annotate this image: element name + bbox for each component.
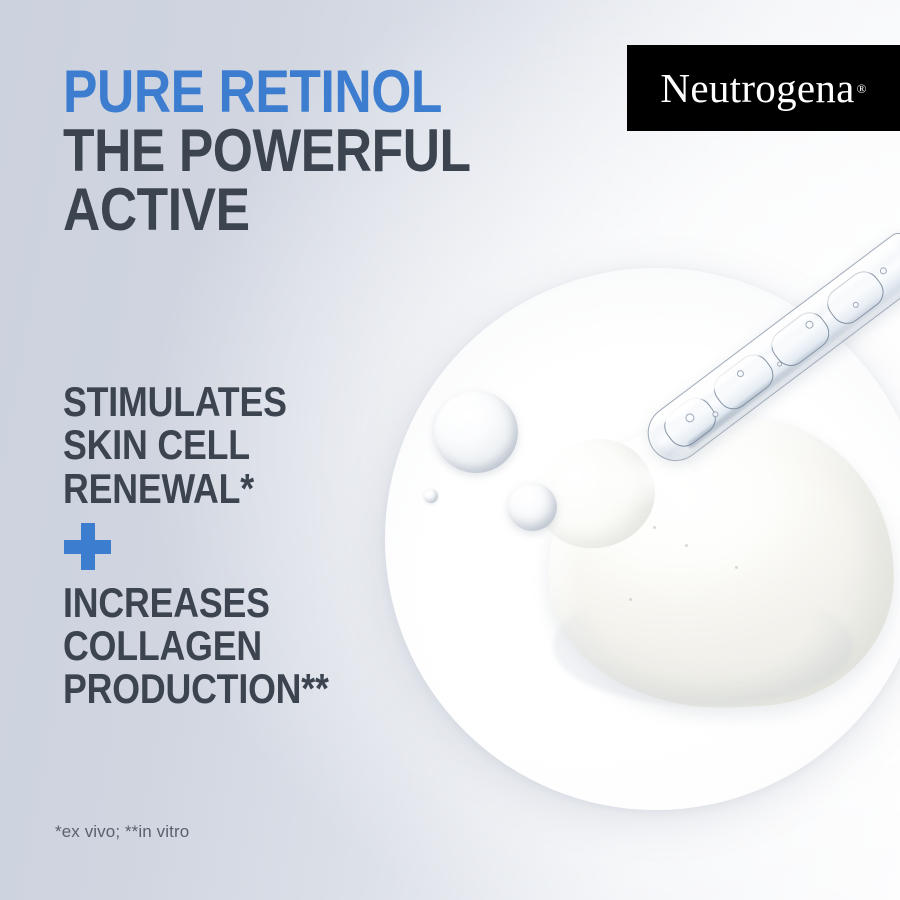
benefit-item-renewal: STIMULATES SKIN CELL RENEWAL* bbox=[63, 380, 403, 510]
serum-blob-rim-shadow bbox=[553, 586, 853, 706]
product-visual bbox=[385, 268, 900, 810]
dropper-bubble bbox=[879, 266, 889, 276]
serum-speck bbox=[685, 544, 688, 547]
plate-shading bbox=[385, 268, 900, 810]
headline-line-1: PURE RETINOL bbox=[63, 62, 545, 121]
droplet-small bbox=[424, 489, 438, 503]
glass-dropper bbox=[636, 229, 900, 472]
serum-blob bbox=[541, 409, 900, 717]
brand-logo-wordmark: Neutrogena bbox=[660, 68, 856, 109]
dropper-bubble bbox=[736, 369, 746, 379]
headline-line-2: THE POWERFUL bbox=[63, 121, 545, 180]
dropper-bubble bbox=[711, 410, 719, 418]
benefit-1-line-2: SKIN CELL bbox=[63, 423, 352, 466]
headline: PURE RETINOL THE POWERFUL ACTIVE bbox=[63, 62, 623, 239]
benefit-2-line-2: COLLAGEN bbox=[63, 624, 352, 667]
dropper-fluid-ring bbox=[658, 391, 722, 453]
serum-speck bbox=[735, 566, 738, 569]
serum-blob-highlight bbox=[592, 431, 730, 518]
circle-plate bbox=[385, 268, 900, 810]
footnote: *ex vivo; **in vitro bbox=[55, 822, 189, 842]
dropper-barrel bbox=[636, 229, 900, 472]
headline-line-3: ACTIVE bbox=[63, 180, 545, 239]
plus-icon bbox=[64, 523, 111, 570]
benefit-1-line-1: STIMULATES bbox=[63, 380, 352, 423]
benefit-1-line-3: RENEWAL* bbox=[63, 467, 352, 510]
dropper-fluid-ring bbox=[765, 306, 836, 372]
dropper-bubble bbox=[804, 319, 815, 330]
droplet-medium bbox=[508, 483, 557, 531]
benefit-2-line-3: PRODUCTION** bbox=[63, 667, 352, 710]
dropper-bubble bbox=[852, 301, 860, 309]
serum-speck bbox=[629, 598, 632, 601]
registered-trademark-icon: ® bbox=[857, 82, 867, 95]
dropper-lowlight bbox=[686, 268, 900, 449]
dropper-fluid-ring bbox=[707, 348, 779, 416]
ad-canvas: Neutrogena® PURE RETINOL THE POWERFUL AC… bbox=[0, 0, 900, 900]
dropper-fluid-ring bbox=[821, 265, 890, 330]
benefit-2-line-1: INCREASES bbox=[63, 581, 352, 624]
brand-logo: Neutrogena® bbox=[627, 45, 900, 131]
dropper-bubble bbox=[776, 361, 783, 368]
dropper-highlight bbox=[661, 241, 900, 426]
droplet-large bbox=[434, 391, 518, 473]
dropper-bubble bbox=[684, 412, 697, 425]
benefit-item-collagen: INCREASES COLLAGEN PRODUCTION** bbox=[63, 581, 403, 711]
serum-speck bbox=[653, 526, 656, 529]
benefit-list: STIMULATES SKIN CELL RENEWAL* INCREASES … bbox=[63, 380, 403, 711]
